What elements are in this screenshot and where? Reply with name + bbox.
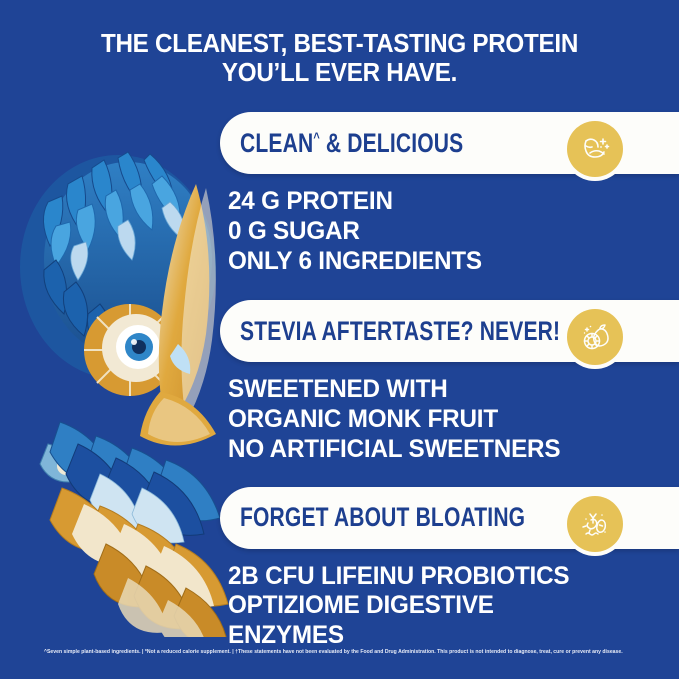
bullet-item: ONLY 6 INGREDIENTS (228, 247, 665, 277)
headline-line-1: THE CLEANEST, BEST-TASTING PROTEIN (17, 30, 662, 59)
spacer (215, 465, 679, 487)
feature-title-text: FORGET ABOUT BLOATING (240, 502, 525, 532)
bullet-item: NO ARTIFICIAL SWEETNERS (228, 435, 665, 465)
bullet-item: OPTIZIOME DIGESTIVE (228, 591, 665, 621)
legal-disclaimer: ^Seven simple plant-based ingredients. |… (44, 649, 644, 655)
bullet-item: 0 G SUGAR (228, 217, 665, 247)
probiotics-bacteria-icon (567, 496, 623, 552)
page-title: THE CLEANEST, BEST-TASTING PROTEIN YOU’L… (17, 30, 662, 87)
bullet-item: 24 G PROTEIN (228, 187, 665, 217)
product-feature-poster: THE CLEANEST, BEST-TASTING PROTEIN YOU’L… (0, 0, 679, 679)
monk-fruit-icon (567, 309, 623, 365)
feature-header-clean-delicious: CLEAN^ & DELICIOUS (220, 112, 679, 174)
bullet-item: ORGANIC MONK FRUIT (228, 405, 665, 435)
spacer (215, 276, 679, 300)
feature-title: STEVIA AFTERTASTE? NEVER! (240, 318, 560, 345)
feature-bullets-clean-delicious: 24 G PROTEIN 0 G SUGAR ONLY 6 INGREDIENT… (228, 187, 679, 276)
flexing-bicep-icon (567, 121, 623, 177)
papercraft-eagle-illustration (0, 92, 250, 637)
headline-line-2: YOU’LL EVER HAVE. (17, 59, 662, 88)
feature-bullets-stevia-aftertaste: SWEETENED WITH ORGANIC MONK FRUIT NO ART… (228, 375, 679, 464)
feature-title-text: CLEAN (240, 128, 313, 158)
feature-title: CLEAN^ & DELICIOUS (240, 130, 463, 157)
feature-header-stevia-aftertaste: STEVIA AFTERTASTE? NEVER! (220, 300, 679, 362)
bullet-item: ENZYMES (228, 621, 665, 651)
feature-header-forget-bloating: FORGET ABOUT BLOATING (220, 487, 679, 549)
bullet-item: 2B CFU LIFEINU PROBIOTICS (228, 562, 665, 592)
feature-title: FORGET ABOUT BLOATING (240, 504, 525, 531)
feature-list: CLEAN^ & DELICIOUS 24 G PROTEIN 0 G SUGA… (215, 112, 679, 651)
feature-bullets-forget-bloating: 2B CFU LIFEINU PROBIOTICS OPTIZIOME DIGE… (228, 562, 679, 651)
feature-title-text: STEVIA AFTERTASTE? NEVER! (240, 316, 560, 346)
bullet-item: SWEETENED WITH (228, 375, 665, 405)
feature-title-rest: & DELICIOUS (320, 128, 463, 158)
